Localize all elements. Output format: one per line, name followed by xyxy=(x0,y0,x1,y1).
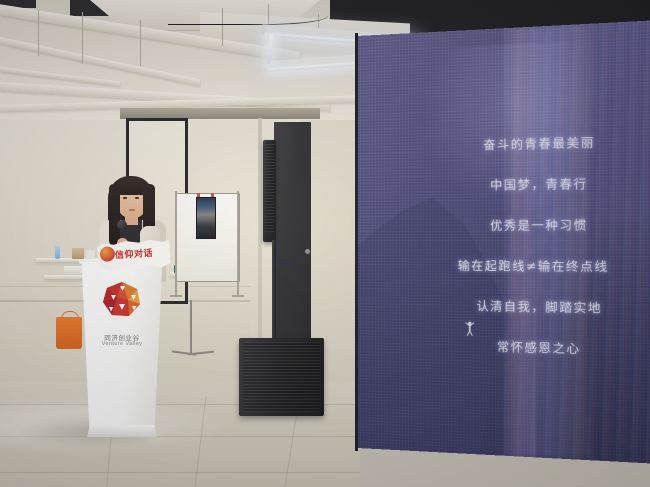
line-array-grill xyxy=(265,142,274,232)
led-slogan-list: 奋斗的青春最美丽 中国梦，青春行 优秀是一种习惯 输在起跑线≠输在终点线 认清自… xyxy=(357,20,650,465)
door-knob[interactable] xyxy=(305,249,310,254)
podium: 同济创业谷 Venture Valley xyxy=(73,262,171,447)
floor-grout-h3 xyxy=(0,472,360,473)
whiteboard-leg-right xyxy=(237,191,239,297)
led-slogan-line-2: 中国梦，青春行 xyxy=(415,173,650,193)
ceiling-cable-black xyxy=(168,2,328,25)
water-bottle-blue[interactable] xyxy=(55,246,60,259)
led-slogan-line-1: 奋斗的青春最美丽 xyxy=(415,131,650,154)
presenter-hair-side-left xyxy=(109,184,120,246)
subwoofer-grill xyxy=(243,342,320,412)
led-slogan-line-5: 认清自我，脚踏实地 xyxy=(415,296,650,317)
shelf-box-tan[interactable] xyxy=(72,248,84,259)
subwoofer xyxy=(239,338,324,416)
presenter-mouth xyxy=(129,209,135,211)
presenter-eye-right xyxy=(135,197,139,199)
tripod-leg-a xyxy=(190,300,192,354)
led-slogan-line-4: 输在起跑线≠输在终点线 xyxy=(403,257,650,275)
photo-scene: 同济创业谷 Venture Valley 信仰对话 奋斗的青春最美丽 中国梦，青… xyxy=(0,0,650,487)
podium-base xyxy=(87,425,157,437)
venture-valley-polyhedron-logo xyxy=(97,280,147,330)
led-video-wall: 奋斗的青春最美丽 中国梦，青春行 优秀是一种习惯 输在起跑线≠输在终点线 认清自… xyxy=(357,20,650,465)
speaker-cable xyxy=(276,235,295,266)
whiteboard-foot-right xyxy=(232,295,244,297)
whiteboard-foot-left xyxy=(170,295,182,297)
podium-logo-en-text: Venture Valley xyxy=(73,341,171,347)
line-array-speaker xyxy=(263,140,276,242)
ceiling-hanger-2 xyxy=(82,12,83,64)
faith-dialogue-sign: 信仰对话 xyxy=(96,238,171,272)
door-frame xyxy=(258,118,262,354)
mobile-whiteboard[interactable] xyxy=(174,191,240,299)
whiteboard-poster xyxy=(196,197,216,239)
shelf-box-white[interactable] xyxy=(86,250,95,259)
led-slogan-line-3: 优秀是一种习惯 xyxy=(415,216,650,234)
ceiling-hanger-3 xyxy=(140,20,141,66)
microphone-head-icon xyxy=(117,220,127,230)
ceiling-hanger-1 xyxy=(38,10,39,56)
led-slogan-line-6: 常怀感恩之心 xyxy=(415,336,650,359)
presenter-eye-left xyxy=(123,197,127,199)
tripod-stand xyxy=(170,300,218,360)
